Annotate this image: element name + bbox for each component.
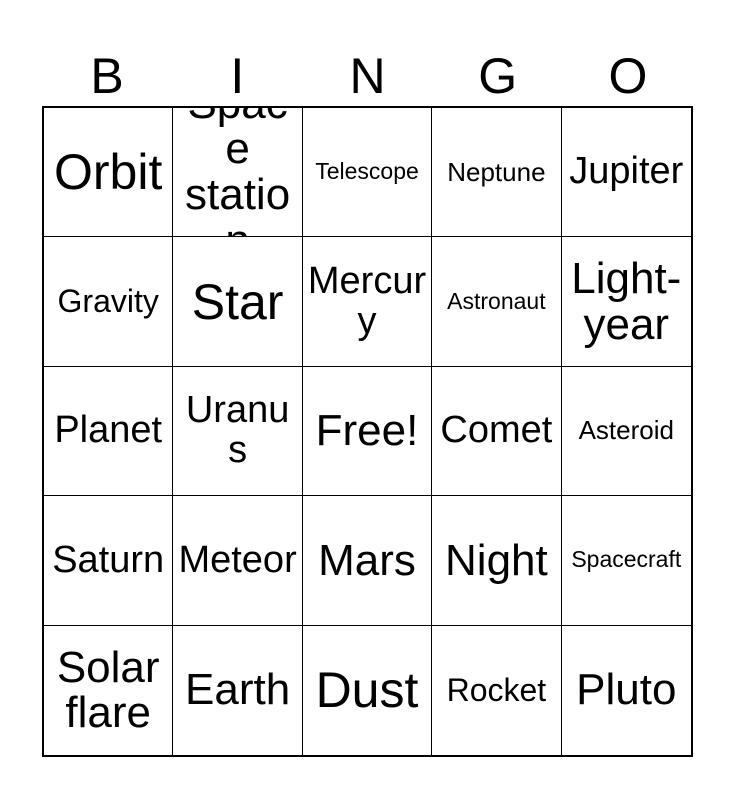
bingo-cell-label: Planet bbox=[47, 411, 169, 451]
bingo-cell-label: Gravity bbox=[47, 285, 169, 318]
bingo-cell[interactable]: Mars bbox=[303, 496, 432, 625]
bingo-cell-label: Uranus bbox=[176, 391, 298, 470]
bingo-cell-label: Light- year bbox=[565, 256, 688, 348]
bingo-cell-label: Spacecraft bbox=[565, 548, 688, 572]
bingo-cell[interactable]: Planet bbox=[44, 367, 173, 496]
bingo-cell-label: Meteor bbox=[176, 541, 298, 581]
bingo-cell[interactable]: Star bbox=[173, 237, 302, 366]
bingo-cell[interactable]: Astronaut bbox=[432, 237, 561, 366]
bingo-cell[interactable]: Gravity bbox=[44, 237, 173, 366]
bingo-cell-label: Telescope bbox=[306, 160, 428, 184]
bingo-cell-label: Neptune bbox=[435, 159, 557, 186]
bingo-cell[interactable]: Asteroid bbox=[562, 367, 691, 496]
bingo-cell-label: Rocket bbox=[435, 674, 557, 707]
bingo-cell-label: Mercury bbox=[306, 262, 428, 341]
header-letter-i: I bbox=[172, 50, 302, 102]
bingo-cell-label: Solar flare bbox=[47, 645, 169, 737]
bingo-cell-label: Free! bbox=[306, 408, 428, 454]
bingo-cell[interactable]: Jupiter bbox=[562, 108, 691, 237]
bingo-cell-label: Night bbox=[435, 538, 557, 584]
bingo-cell[interactable]: Telescope bbox=[303, 108, 432, 237]
bingo-cell-free[interactable]: Free! bbox=[303, 367, 432, 496]
bingo-cell-label: Asteroid bbox=[565, 417, 688, 444]
bingo-cell-label: Pluto bbox=[565, 667, 688, 713]
bingo-cell[interactable]: Meteor bbox=[173, 496, 302, 625]
bingo-cell-label: Space station bbox=[176, 108, 298, 237]
bingo-cell[interactable]: Pluto bbox=[562, 626, 691, 755]
bingo-cell[interactable]: Uranus bbox=[173, 367, 302, 496]
bingo-cell[interactable]: Dust bbox=[303, 626, 432, 755]
bingo-cell-label: Jupiter bbox=[565, 152, 688, 192]
header-letter-o: O bbox=[563, 50, 693, 102]
bingo-cell-label: Comet bbox=[435, 411, 557, 451]
bingo-cell[interactable]: Solar flare bbox=[44, 626, 173, 755]
bingo-grid: Orbit Space station Telescope Neptune Ju… bbox=[42, 106, 693, 757]
bingo-cell-label: Saturn bbox=[47, 541, 169, 581]
header-letter-g: G bbox=[433, 50, 563, 102]
bingo-cell[interactable]: Light- year bbox=[562, 237, 691, 366]
bingo-header: B I N G O bbox=[42, 30, 693, 102]
bingo-cell-label: Astronaut bbox=[435, 290, 557, 314]
header-letter-b: B bbox=[42, 50, 172, 102]
bingo-cell-label: Earth bbox=[176, 667, 298, 713]
bingo-cell[interactable]: Orbit bbox=[44, 108, 173, 237]
bingo-cell[interactable]: Night bbox=[432, 496, 561, 625]
header-letter-n: N bbox=[302, 50, 432, 102]
bingo-cell[interactable]: Earth bbox=[173, 626, 302, 755]
bingo-cell[interactable]: Neptune bbox=[432, 108, 561, 237]
bingo-cell[interactable]: Spacecraft bbox=[562, 496, 691, 625]
bingo-cell-label: Star bbox=[176, 276, 298, 328]
bingo-cell[interactable]: Saturn bbox=[44, 496, 173, 625]
bingo-cell-label: Dust bbox=[306, 664, 428, 716]
bingo-cell-label: Mars bbox=[306, 538, 428, 584]
bingo-cell[interactable]: Rocket bbox=[432, 626, 561, 755]
bingo-cell[interactable]: Comet bbox=[432, 367, 561, 496]
bingo-cell[interactable]: Mercury bbox=[303, 237, 432, 366]
bingo-cell-label: Orbit bbox=[47, 146, 169, 198]
bingo-card: B I N G O Orbit Space station Telescope … bbox=[0, 0, 736, 800]
bingo-cell[interactable]: Space station bbox=[173, 108, 302, 237]
